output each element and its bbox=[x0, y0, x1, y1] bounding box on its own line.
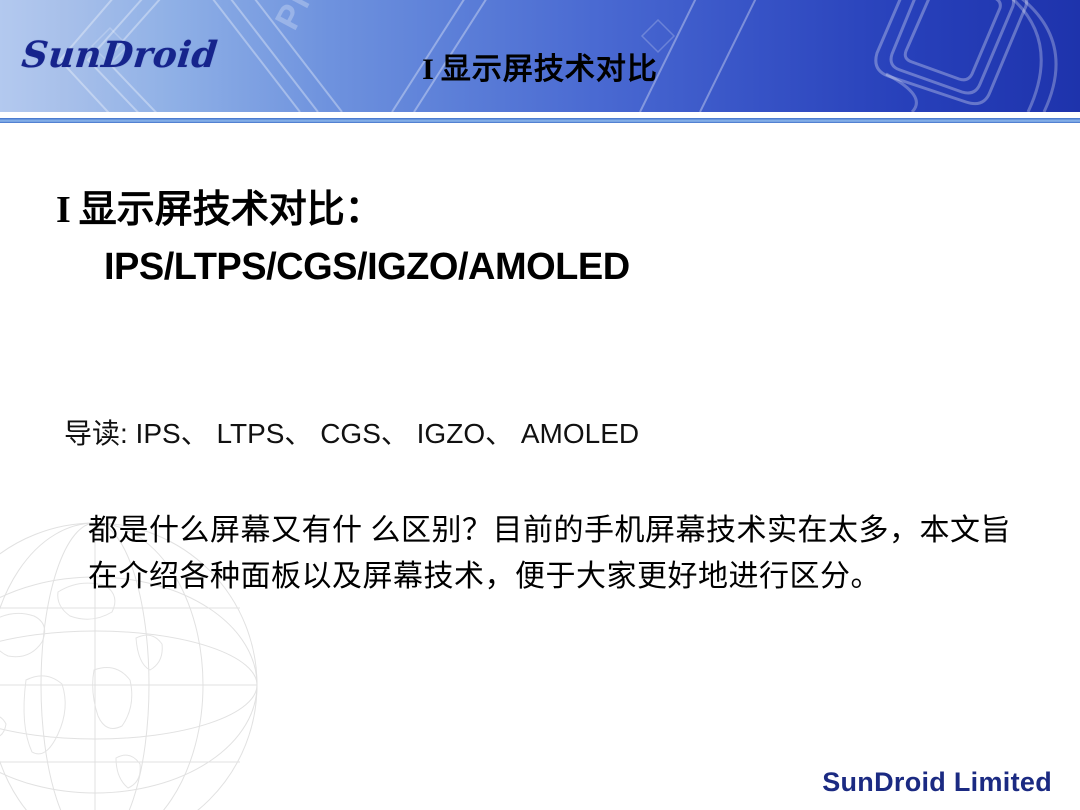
phone-watermark-text: Phone bbox=[268, 0, 356, 36]
header-title-text: 显示屏技术对比 bbox=[441, 53, 658, 86]
lead-in-line: 导读: IPS、 LTPS、 CGS、 IGZO、 AMOLED bbox=[64, 412, 639, 452]
slide-title-block: I显示屏技术对比： IPS/LTPS/CGS/IGZO/AMOLED bbox=[56, 186, 630, 290]
slide-title-line-1: I显示屏技术对比： bbox=[56, 186, 630, 234]
slide-title-line-1-text: 显示屏技术对比： bbox=[79, 189, 383, 231]
slide-header: Phone SunDroid I显示屏技术对比 bbox=[0, 0, 1080, 112]
slide-canvas: Phone SunDroid I显示屏技术对比 bbox=[0, 0, 1080, 810]
header-title: I显示屏技术对比 bbox=[0, 44, 1080, 88]
footer-brand: SunDroid Limited bbox=[822, 767, 1052, 798]
header-title-marker: I bbox=[422, 53, 441, 86]
slide-title-line-2: IPS/LTPS/CGS/IGZO/AMOLED bbox=[104, 244, 630, 290]
body-paragraph: 都是什么屏幕又有什 么区别？目前的手机屏幕技术实在太多，本文旨在介绍各种面板以及… bbox=[88, 508, 1018, 600]
header-divider-rule bbox=[0, 118, 1080, 123]
slide-title-marker: I bbox=[56, 189, 79, 231]
